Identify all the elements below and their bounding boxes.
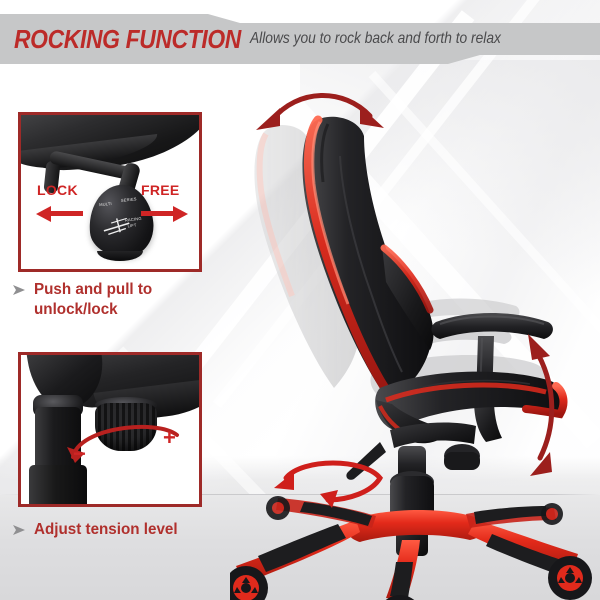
- lock-lever-foot: [97, 251, 143, 261]
- lock-label: LOCK: [37, 183, 78, 197]
- caption-adjust-tension-text: Adjust tension level: [34, 520, 178, 540]
- page-subtitle: Allows you to rock back and forth to rel…: [250, 31, 501, 47]
- tension-knob-photo: − +: [21, 355, 199, 504]
- gaming-chair-photo: [230, 70, 600, 600]
- page-title: ROCKING FUNCTION: [14, 26, 241, 52]
- tension-increase-label: +: [163, 427, 176, 449]
- knob-mark-2: SERIES: [121, 197, 137, 203]
- caption-push-pull: Push and pull to unlock/lock: [12, 280, 212, 319]
- gas-lift-cylinder: [390, 446, 434, 556]
- gaming-chair-svg: [230, 70, 600, 600]
- caster: [541, 503, 563, 525]
- triangle-right-bullet-icon: [12, 523, 26, 537]
- caster: [266, 496, 290, 520]
- knob-mark-1: MULTI: [99, 202, 112, 207]
- arrow-left-icon: [35, 205, 83, 223]
- caption-adjust-tension: Adjust tension level: [12, 520, 212, 540]
- tension-decrease-label: −: [73, 443, 86, 465]
- triangle-right-bullet-icon: [12, 283, 26, 297]
- caption-push-pull-text: Push and pull to unlock/lock: [34, 280, 203, 319]
- caster: [548, 556, 592, 600]
- infographic-page: ROCKING FUNCTION Allows you to rock back…: [0, 0, 600, 600]
- caster: [377, 595, 423, 600]
- arrow-right-icon: [141, 205, 189, 223]
- header-banner-content: ROCKING FUNCTION Allows you to rock back…: [0, 14, 600, 64]
- free-label: FREE: [141, 183, 180, 197]
- tilt-lock-photo: MULTI SERIES RACING LIFT LOCK FREE: [21, 115, 199, 269]
- inset-panel-tension-adjust: − +: [18, 352, 202, 507]
- inset-panel-tilt-lock: MULTI SERIES RACING LIFT LOCK FREE: [18, 112, 202, 272]
